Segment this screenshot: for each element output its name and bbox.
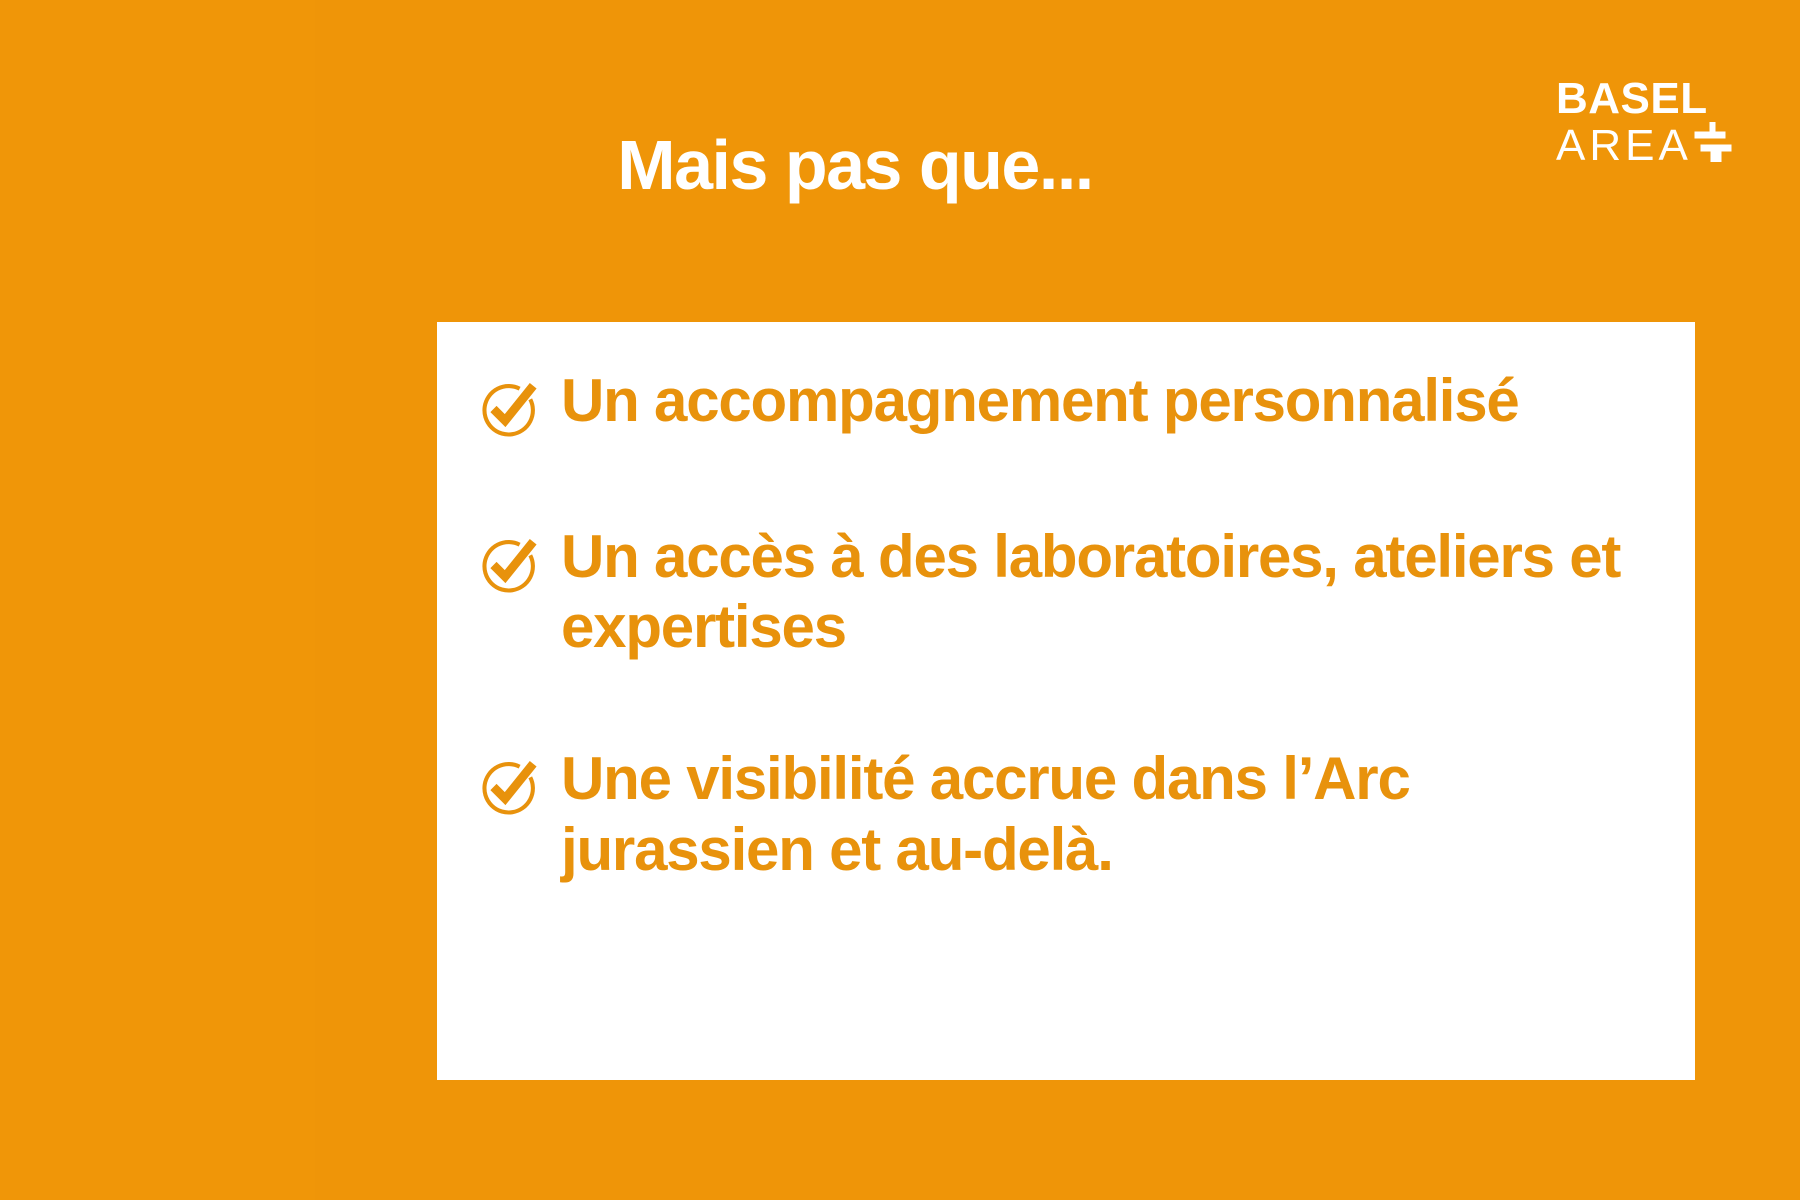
page-title: Mais pas que... [315,129,1395,203]
content-card: Un accompagnement personnalisé Un accès … [437,322,1695,1080]
slide-canvas: Mais pas que... BASEL AREA [0,0,1800,1200]
list-item-label: Un accès à des laboratoires, ateliers et… [561,522,1635,662]
logo-wordmark-area: AREA [1556,124,1692,168]
benefits-list: Un accompagnement personnalisé Un accès … [477,366,1635,885]
logo-wordmark-basel: BASEL [1556,78,1756,120]
list-item-label: Un accompagnement personnalisé [561,366,1519,436]
left-edge-strip [0,0,315,1200]
check-circle-icon [477,756,539,818]
list-item: Un accès à des laboratoires, ateliers et… [477,522,1635,662]
list-item-label: Une visibilité accrue dans l’Arc jurassi… [561,744,1635,884]
list-item: Un accompagnement personnalisé [477,366,1635,440]
basel-area-logo: BASEL AREA [1556,78,1756,171]
logo-second-line: AREA [1556,122,1756,171]
check-circle-icon [477,378,539,440]
check-circle-icon [477,534,539,596]
list-item: Une visibilité accrue dans l’Arc jurassi… [477,744,1635,884]
swiss-cross-split-mark-icon [1693,122,1733,167]
